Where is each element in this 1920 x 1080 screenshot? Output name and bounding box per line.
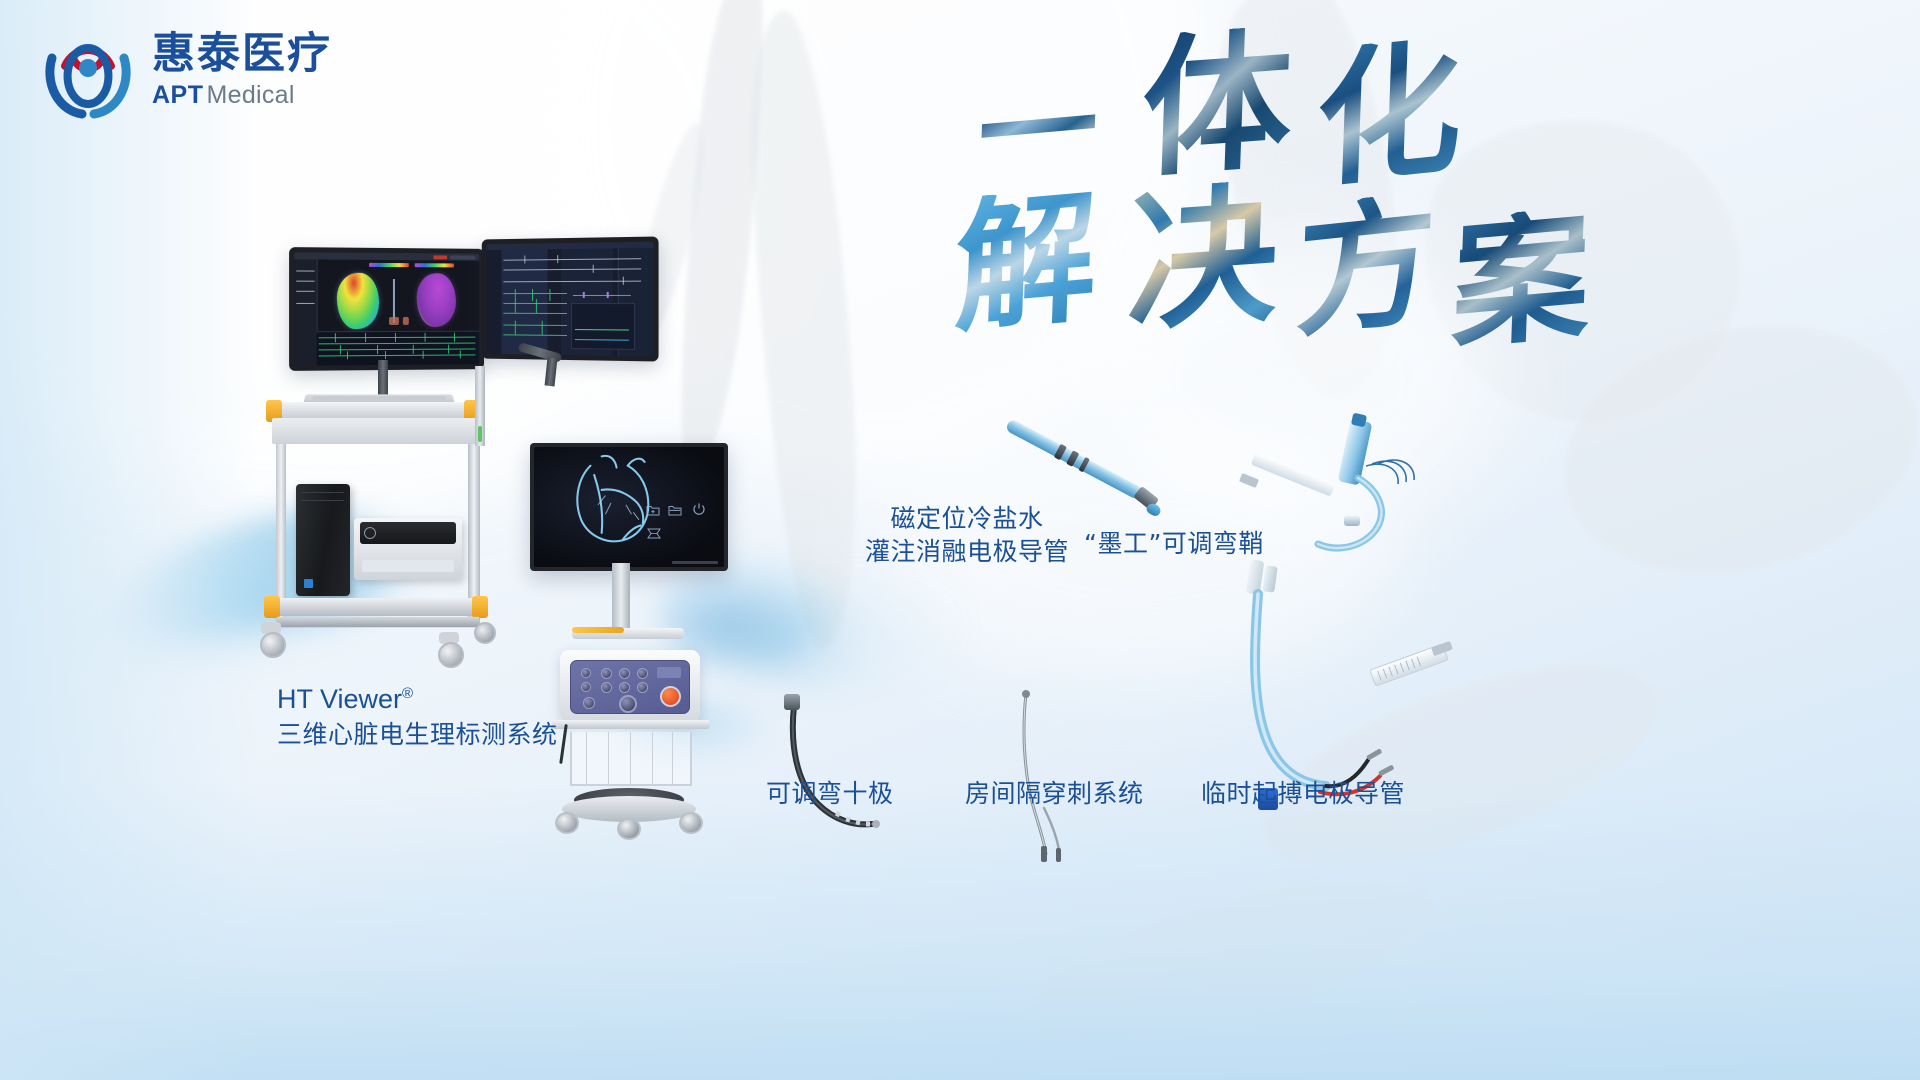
status-led <box>478 426 482 442</box>
cardiac-map-left <box>337 273 379 329</box>
left-tint <box>0 0 260 1080</box>
headline-char-4: 解 <box>953 185 1099 340</box>
label-temporary-pacing-catheter: 临时起搏电极导管 <box>1201 777 1405 810</box>
rf-generator-panel[interactable] <box>570 660 690 714</box>
bottom-gradient <box>0 780 1920 1080</box>
ink-wash-splash <box>745 574 985 695</box>
mesh-icon[interactable] <box>646 527 662 545</box>
label-ht-viewer-en: HT Viewer® <box>277 682 558 718</box>
heart-display-screen <box>534 447 724 567</box>
brand-name-en-secondary: Medical <box>207 81 295 110</box>
heart-display-monitor <box>530 443 728 571</box>
headline-char-2: 体 <box>1140 24 1295 185</box>
label-irrigated-ablation-catheter: 磁定位冷盐水 灌注消融电极导管 <box>865 502 1069 568</box>
cart-base <box>275 617 481 627</box>
port[interactable] <box>581 668 591 678</box>
headline-char-5: 决 <box>1126 178 1281 339</box>
label-line-2: 灌注消融电极导管 <box>865 535 1069 568</box>
pc-badge <box>304 579 313 588</box>
label-transseptal-puncture-system: 房间隔穿刺系统 <box>965 777 1144 810</box>
monitor-right <box>482 236 659 361</box>
poster-canvas: 惠泰医疗 APT Medical 一 体 化 解 决 方 案 <box>0 0 1920 1080</box>
monitor-arm-right-post <box>545 358 558 387</box>
cart-drawer[interactable] <box>272 418 484 444</box>
caster-rear-right <box>472 612 494 640</box>
brand-name-en-primary: APT <box>152 81 204 110</box>
pc-tower <box>296 484 350 596</box>
brand-name-en: APT Medical <box>152 81 332 110</box>
caster <box>678 806 700 830</box>
rf-display <box>657 667 681 678</box>
label-line-1: 磁定位冷盐水 <box>865 502 1069 535</box>
brush-stroke <box>743 8 866 652</box>
label-ht-viewer-cn: 三维心脏电生理标测系统 <box>277 718 558 751</box>
label-steerable-decapolar: 可调弯十极 <box>766 777 894 810</box>
decapolar-connector <box>784 694 800 710</box>
port[interactable] <box>581 682 591 692</box>
hemostasis-valve <box>1344 516 1360 526</box>
label-ht-viewer: HT Viewer® 三维心脏电生理标测系统 <box>277 682 558 751</box>
monitor-right-screen <box>486 242 653 357</box>
steerable-sheath-image <box>1240 420 1440 580</box>
brand-logo-text: 惠泰医疗 APT Medical <box>152 32 332 110</box>
power-icon[interactable] <box>692 502 706 521</box>
caster-front-left <box>258 622 284 654</box>
printer-tray <box>362 560 454 572</box>
label-line-1: 临时起搏电极导管 <box>1201 777 1405 810</box>
brush-stroke <box>663 0 779 482</box>
cart-accent-base-left <box>264 596 280 618</box>
cable <box>559 724 568 764</box>
rf-start-button[interactable] <box>660 686 681 707</box>
ground-port[interactable] <box>583 697 595 709</box>
label-mogong-steerable-sheath: “墨工”可调弯鞘 <box>1084 527 1264 560</box>
heart-anatomy-illustration <box>534 447 716 559</box>
rf-generator-cart <box>548 620 718 850</box>
brand-name-cn: 惠泰医疗 <box>152 32 332 77</box>
brush-stroke <box>1012 844 1449 1075</box>
rf-shelf <box>552 720 710 729</box>
brand-logo[interactable]: 惠泰医疗 APT Medical <box>38 22 332 120</box>
cardiac-map-right <box>417 273 456 327</box>
label-line-1: 可调弯十极 <box>766 777 894 810</box>
caster <box>616 814 638 836</box>
port[interactable] <box>637 682 648 693</box>
label-line-1: “墨工”可调弯鞘 <box>1084 527 1264 560</box>
printer-power-icon <box>364 527 376 539</box>
port[interactable] <box>601 668 612 679</box>
headline-char-7: 案 <box>1450 206 1592 357</box>
irrigation-droplet <box>1145 501 1163 517</box>
folder-plus-icon[interactable] <box>646 503 660 521</box>
port[interactable] <box>601 682 612 693</box>
monitor-left <box>289 247 484 371</box>
main-connector-port[interactable] <box>619 695 637 713</box>
sheath-tube <box>1240 420 1440 580</box>
printer <box>354 518 462 580</box>
storage-basket <box>570 732 692 786</box>
headline-calligraphy: 一 体 化 解 决 方 案 <box>960 22 1660 352</box>
port[interactable] <box>637 668 648 679</box>
label-line-1: 房间隔穿刺系统 <box>965 777 1144 810</box>
port[interactable] <box>619 682 630 693</box>
screen-footer-text <box>672 561 718 564</box>
apt-medical-logo-icon <box>38 22 138 120</box>
irrigated-ablation-catheter-image <box>963 402 1187 597</box>
caster-front-right <box>436 632 462 664</box>
folder-icon[interactable] <box>668 503 682 521</box>
caster <box>554 806 576 830</box>
headline-char-3: 化 <box>1314 34 1464 197</box>
headline-char-6: 方 <box>1294 190 1438 346</box>
cart-top-deck <box>272 402 482 418</box>
monitor-left-screen <box>294 252 479 366</box>
port[interactable] <box>619 668 630 679</box>
cart-base-deck <box>268 598 486 616</box>
